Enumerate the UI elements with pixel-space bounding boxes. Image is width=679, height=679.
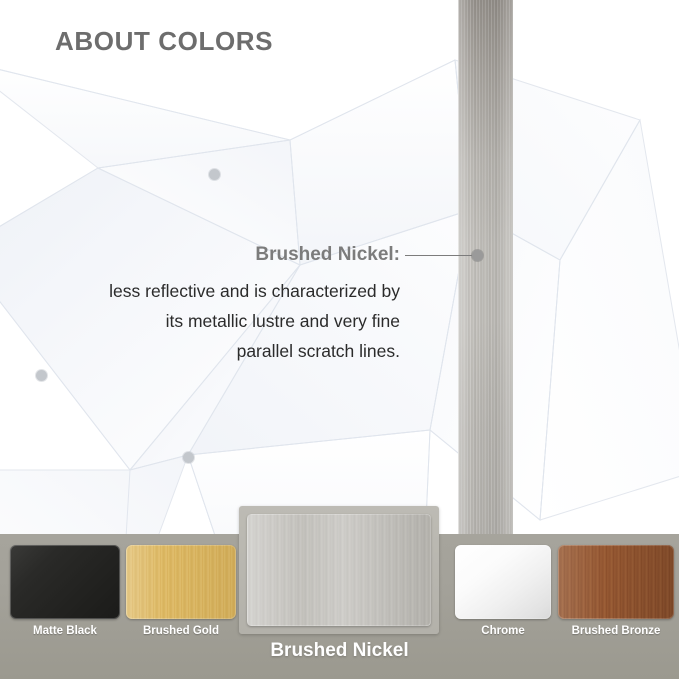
swatch-brushed-nickel-selected[interactable] (239, 506, 439, 634)
decor-dot (209, 169, 220, 180)
swatch-chip-brushed-nickel[interactable] (247, 514, 431, 626)
decor-dot (183, 452, 194, 463)
callout-leader-dot (472, 250, 483, 261)
swatch-chrome[interactable]: Chrome (455, 545, 551, 619)
callout-leader-line (405, 255, 473, 256)
brushed-nickel-sample-bar (458, 0, 513, 534)
decor-dot (36, 370, 47, 381)
swatch-chip-matte-black[interactable] (10, 545, 120, 619)
callout-text-block: Brushed Nickel: less reflective and is c… (30, 240, 400, 366)
swatch-label-brushed-gold: Brushed Gold (143, 625, 219, 637)
swatch-label-matte-black: Matte Black (33, 625, 97, 637)
swatch-brushed-bronze[interactable]: Brushed Bronze (558, 545, 674, 619)
callout-description: less reflective and is characterized by … (30, 276, 400, 366)
metal-sheen-overlay (458, 0, 513, 534)
swatch-chip-brushed-gold[interactable] (126, 545, 236, 619)
swatch-matte-black[interactable]: Matte Black (10, 545, 120, 619)
swatch-chip-brushed-bronze[interactable] (558, 545, 674, 619)
about-colors-poster: ABOUT COLORS Brushed Nickel: less reflec… (0, 0, 679, 679)
swatch-label-chrome: Chrome (481, 625, 524, 637)
swatch-chip-chrome[interactable] (455, 545, 551, 619)
swatch-brushed-gold[interactable]: Brushed Gold (126, 545, 236, 619)
page-title: ABOUT COLORS (55, 26, 273, 57)
callout-label: Brushed Nickel: (30, 240, 400, 270)
swatch-label-brushed-bronze: Brushed Bronze (572, 625, 661, 637)
